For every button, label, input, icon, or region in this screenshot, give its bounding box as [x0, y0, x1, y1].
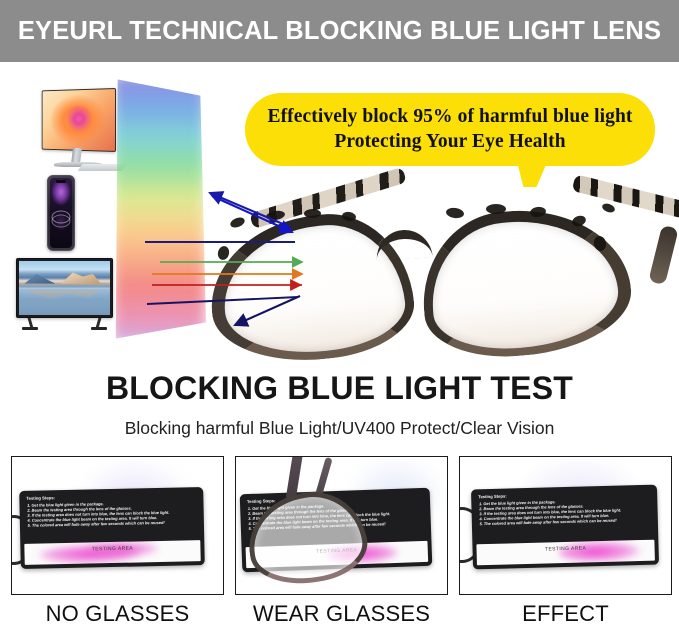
- glasses-temple-tip: [648, 225, 679, 285]
- leopard-spot: [486, 204, 506, 214]
- test-section-subtitle: Blocking harmful Blue Light/UV400 Protec…: [0, 418, 679, 439]
- tv-foot-left: [22, 327, 38, 330]
- glasses-lens-overlay: [242, 484, 373, 591]
- glasses-temple-right: [572, 174, 679, 219]
- page-title: EYEURL TECHNICAL BLOCKING BLUE LIGHT LEN…: [18, 17, 661, 46]
- blue-light-blocking-glasses: [200, 174, 670, 364]
- leopard-spot: [601, 202, 616, 214]
- glasses-lens-right: [416, 201, 636, 364]
- tv-frame: [16, 258, 113, 318]
- panel-caption: WEAR GLASSES: [235, 601, 448, 627]
- hero-section: Effectively block 95% of harmful blue li…: [0, 62, 679, 367]
- tv-screen: [19, 261, 110, 315]
- test-card-steps: Testing Steps: Get the blue light given …: [478, 490, 652, 527]
- testing-area: TESTING AREA: [24, 540, 200, 565]
- testing-area: TESTING AREA: [476, 540, 654, 566]
- test-panels: Testing Steps: Get the blue light given …: [11, 456, 671, 628]
- tv-wallpaper-mountain-right: [61, 272, 101, 284]
- panel-caption: NO GLASSES: [11, 601, 224, 627]
- test-card-steps: Testing Steps: Get the blue light given …: [26, 492, 198, 528]
- glasses-bridge: [375, 229, 432, 261]
- leopard-spot: [304, 209, 321, 218]
- speech-bubble-line-1: Effectively block 95% of harmful blue li…: [267, 106, 632, 128]
- speech-bubble: Effectively block 95% of harmful blue li…: [245, 93, 655, 166]
- test-card: Testing Steps: Get the blue light given …: [471, 485, 659, 570]
- panel-wear-glasses-image: Testing Steps: Get the blue light given …: [235, 456, 448, 595]
- leopard-spot: [445, 207, 464, 219]
- phone-notch: [56, 180, 66, 183]
- tv-wallpaper-lake: [19, 289, 110, 315]
- glasses-lens-left: [203, 206, 419, 367]
- glasses-overlay: [242, 456, 374, 591]
- tv-foot-right: [91, 327, 107, 330]
- phone-body: [47, 175, 75, 251]
- test-card: Testing Steps: Get the blue light given …: [19, 487, 205, 569]
- panel-effect-image: Testing Steps: Get the blue light given …: [459, 456, 672, 595]
- tv-wallpaper-mountain-left: [24, 273, 55, 284]
- speech-bubble-line-2: Protecting Your Eye Health: [334, 131, 565, 153]
- smartphone-icon: [47, 175, 75, 251]
- test-card-steps-list: Get the blue light given in the package.…: [26, 499, 198, 528]
- panel-no-glasses-image: Testing Steps: Get the blue light given …: [11, 456, 224, 595]
- phone-wallpaper-rings: [52, 211, 71, 224]
- header-bar: EYEURL TECHNICAL BLOCKING BLUE LIGHT LEN…: [0, 0, 679, 62]
- monitor-screen: [42, 88, 116, 152]
- leopard-spot: [229, 216, 246, 230]
- desktop-monitor-icon: [28, 88, 118, 174]
- test-section-heading: BLOCKING BLUE LIGHT TEST: [0, 370, 679, 407]
- test-card-steps-list: Get the blue light given in the package.…: [478, 496, 652, 526]
- television-icon: [16, 258, 113, 332]
- panel-no-glasses: Testing Steps: Get the blue light given …: [11, 456, 224, 628]
- panel-effect: Testing Steps: Get the blue light given …: [459, 456, 672, 628]
- panel-wear-glasses: Testing Steps: Get the blue light given …: [235, 456, 448, 628]
- light-spectrum-band: [112, 74, 206, 344]
- panel-caption: EFFECT: [459, 601, 672, 627]
